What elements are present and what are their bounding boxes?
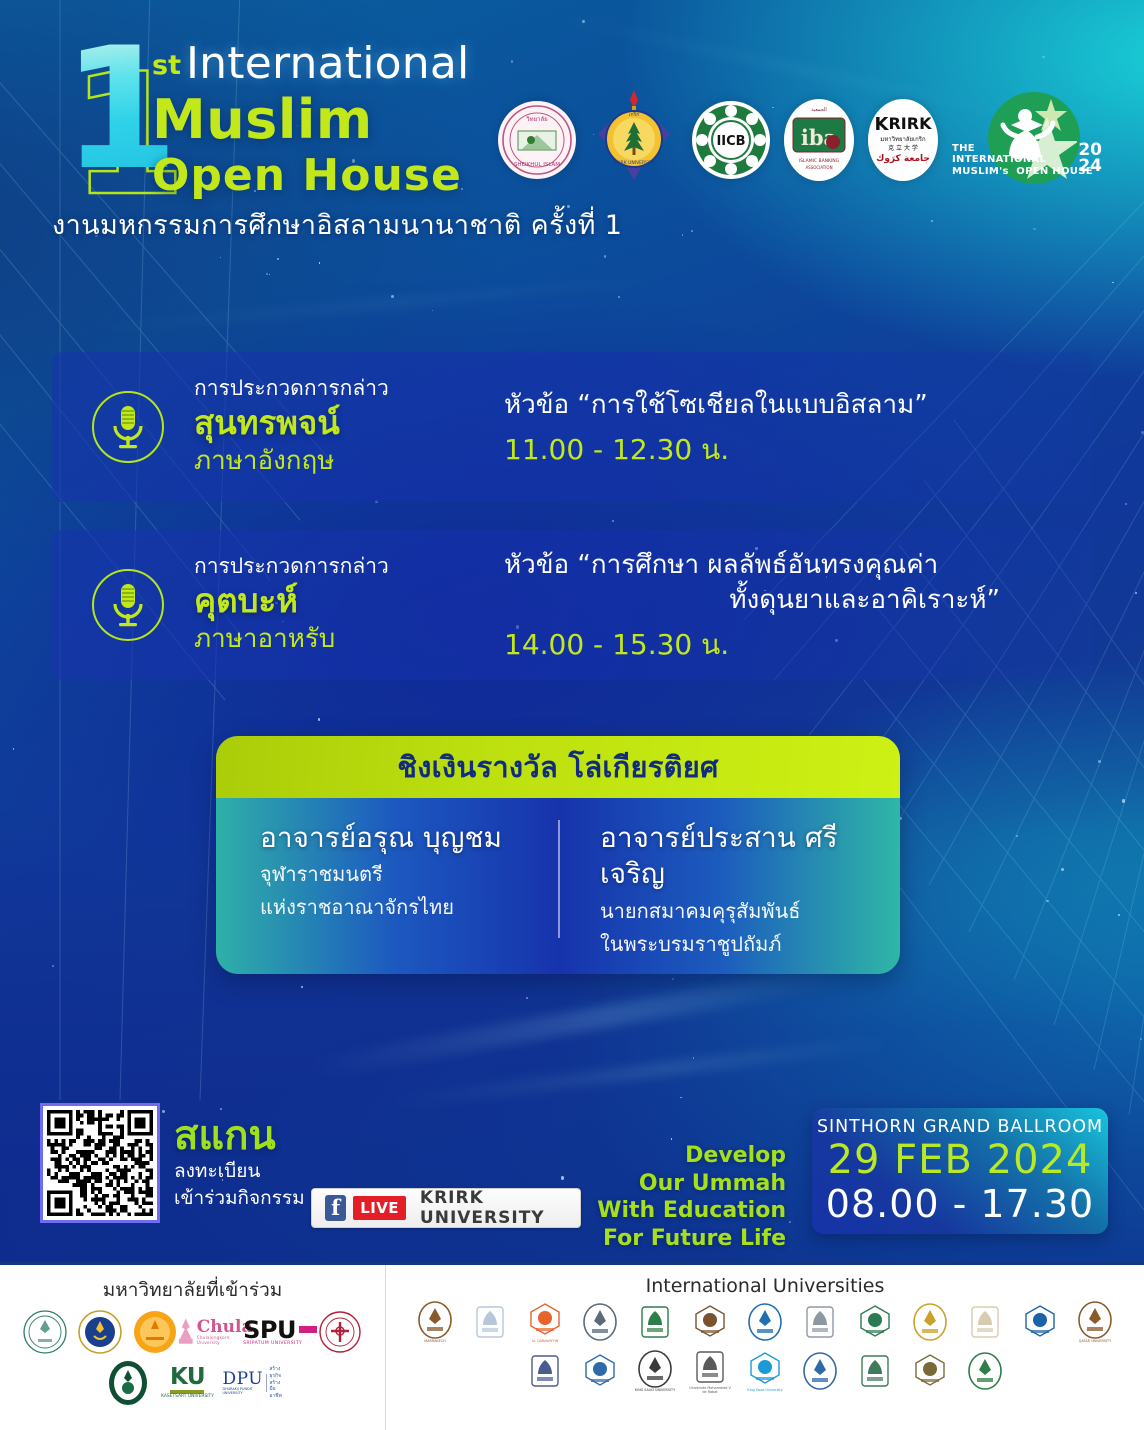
footer-logo-university-pink-dome-logo [467, 1303, 513, 1341]
al-azhar-university-logo-icon [912, 1303, 948, 1341]
poster-header: 1 1 st International Muslim Open House ง… [0, 0, 1144, 250]
footer-logo-palm-tree-university-logo [962, 1352, 1008, 1390]
judge-name: อาจารย์ประสาน ศรีเจริญ [600, 820, 874, 893]
svg-text:ISLAMIC BANKING: ISLAMIC BANKING [799, 158, 840, 164]
footer-logo-brown-crest-university-logo [687, 1303, 733, 1341]
event-topic-line: หัวข้อ “การศึกษา ผลลัพธ์อันทรงคุณค่า [504, 548, 1092, 583]
title-muslim: Muslim [152, 92, 469, 147]
microphone-glyph [108, 404, 148, 450]
footer-logo-sripatum: SPU SRIPATUM UNIVERSITY [252, 1310, 308, 1354]
al-qarawiyyin-university-logo-icon [527, 1301, 563, 1339]
prize-card: ชิงเงินรางวัล โล่เกียรติยศ อาจารย์อรุณ บ… [216, 736, 900, 974]
footer-logo-sunrise-university-logo [577, 1352, 623, 1390]
judge-role-line: ในพระบรมราชูปถัมภ์ [600, 930, 874, 959]
small-crest-university-logo-icon [857, 1352, 893, 1390]
footer-logo-small-crest-university-logo [852, 1352, 898, 1390]
prize-heading: ชิงเงินรางวัล โล่เกียรติยศ [397, 744, 719, 790]
logo-krirk-arabic-seal: KRIRK มหาวิทยาลัยเกริก 克 立 大 学 جامعة كرَ… [868, 99, 938, 181]
palm-tree-university-logo-icon [967, 1352, 1003, 1390]
ordinal-suffix: st [152, 52, 181, 79]
facebook-live-badge[interactable]: f LIVE KRIRK UNIVERSITY [311, 1188, 581, 1228]
judge-divider [558, 820, 560, 938]
blue-circle-university-logo-icon [1022, 1303, 1058, 1341]
footer-thai-title: มหาวิทยาลัยที่เข้าร่วม [0, 1275, 385, 1305]
event-time: 14.00 - 15.30 น. [504, 628, 1092, 662]
svg-text:الجمعية: الجمعية [811, 107, 827, 113]
u-monogram-university-logo-icon [527, 1352, 563, 1390]
qr-scan-label: สแกน [174, 1116, 305, 1156]
open-house-badge-year: 2024 [1078, 142, 1102, 174]
king-saud-book-logo-label: KING SAUD UNIVERSITY [635, 1388, 675, 1392]
logo-international-muslims-open-house-badge: THEINTERNATIONALMUSLIM's OPEN HOUSE 2024 [952, 94, 1102, 186]
imam-university-logo-icon [802, 1352, 838, 1390]
spu-sublabel: SRIPATUM UNIVERSITY [243, 1342, 317, 1347]
svg-text:SHEIKHUL ISLAM: SHEIKHUL ISLAM [514, 162, 560, 168]
venue-name: SINTHORN GRAND BALLROOM [812, 1117, 1108, 1137]
poster-root: 1 1 st International Muslim Open House ง… [0, 0, 1144, 1430]
slogan-line: Develop [597, 1142, 786, 1170]
footer-international-universities: International Universities MARRAKECHAL Q… [386, 1265, 1144, 1430]
event-left: การประกวดการกล่าว คุตบะห์ ภาษาอาหรับ [194, 553, 484, 657]
slogan-line: Our Ummah [597, 1170, 786, 1198]
footer-logo-green-crest-university-logo [632, 1303, 678, 1341]
facebook-icon: f [325, 1195, 346, 1221]
qr-sub-line: ลงทะเบียน [174, 1159, 305, 1183]
mohammed-v-rabat-logo-label: Universite Mohammed V de Rabat [687, 1386, 733, 1394]
footer-logo-dhurakij-pundit: DPU DHURAKIJ PUNDIT UNIVERSITY สร้างธุรก… [225, 1361, 281, 1405]
king-saud-university-logo-icon [747, 1350, 783, 1388]
event-title: สุนทรพจน์ [194, 402, 484, 445]
event-hours: 08.00 - 17.30 [812, 1184, 1108, 1226]
footer-logo-mahidol-seal [317, 1309, 363, 1355]
slogan-line: With Education [597, 1197, 786, 1225]
event-kicker: การประกวดการกล่าว [194, 375, 484, 401]
intl-logo-grid: MARRAKECHAL QARAWIYYINQATAR UNIVERSITYKI… [386, 1301, 1144, 1394]
footer-logo-king-saud-university-logo: King Saud University [742, 1350, 788, 1392]
svg-text:KRIRK UNIVERSITY: KRIRK UNIVERSITY [613, 160, 655, 166]
footer-logo-silpakorn-seal [22, 1309, 68, 1355]
event-topic-line: หัวข้อ “การใช้โซเชียลในแบบอิสลาม” [504, 388, 1092, 423]
event-title: คุตบะห์ [194, 580, 484, 623]
microphone-icon [92, 391, 164, 463]
footer-logo-sun-emblem-university-logo [742, 1303, 788, 1341]
footer-logo-kasetsart: KU KASETSART UNIVERSITY [160, 1361, 216, 1405]
judge-role-line: แห่งราชอาณาจักรไทย [260, 893, 534, 922]
mosque-tower-university-logo-icon [582, 1303, 618, 1341]
footer-logo-blue-circle-university-logo [1017, 1303, 1063, 1341]
king-saud-book-logo-icon [637, 1350, 673, 1388]
judge-entry: อาจารย์อรุณ บุญชม จุฬาราชมนตรี แห่งราชอา… [216, 820, 560, 922]
krirk-cjk-sub: 克 立 大 学 [888, 145, 918, 152]
partner-logo-row: วิทยาลัย SHEIKHUL ISLAM [498, 88, 1102, 192]
al-qarawiyyin-university-logo-label: AL QARAWIYYIN [532, 1339, 559, 1343]
footer-logo-king-saud-book-logo: KING SAUD UNIVERSITY [632, 1350, 678, 1392]
prize-card-body: อาจารย์อรุณ บุญชม จุฬาราชมนตรี แห่งราชอา… [216, 798, 900, 974]
footer-logo-ramkhamhaeng-seal [132, 1309, 178, 1355]
microphone-glyph [108, 582, 148, 628]
ordinal-numeral: 1 1 [52, 38, 164, 198]
judge-role-line: จุฬาราชมนตรี [260, 860, 534, 889]
event-date: 29 FEB 2024 [812, 1137, 1108, 1184]
spu-label: SPU [243, 1318, 296, 1342]
footer-logo-green-oval-university-logo [852, 1303, 898, 1341]
event-language: ภาษาอาหรับ [194, 623, 484, 657]
event-right: หัวข้อ “การใช้โซเชียลในแบบอิสลาม” 11.00 … [484, 388, 1092, 467]
svg-text:เกริก: เกริก [629, 111, 639, 118]
footer-logo-qatar-university-logo: QATAR UNIVERSITY [1072, 1301, 1118, 1343]
ku-sublabel: KASETSART UNIVERSITY [161, 1395, 214, 1399]
university-pink-dome-logo-icon [472, 1303, 508, 1341]
qr-code[interactable] [40, 1103, 160, 1223]
footer-logo-marrakech-university-logo: MARRAKECH [412, 1301, 458, 1343]
event-right: หัวข้อ “การศึกษา ผลลัพธ์อันทรงคุณค่า ทั้… [484, 548, 1092, 662]
green-oval-university-logo-icon [857, 1303, 893, 1341]
krirk-thai-sub: มหาวิทยาลัยเกริก [880, 136, 925, 143]
sun-emblem-university-logo-icon [747, 1303, 783, 1341]
marrakech-university-logo-icon [417, 1301, 453, 1339]
king-saud-university-logo-label: King Saud University [747, 1388, 782, 1392]
grey-shield-university-logo-icon [802, 1303, 838, 1341]
svg-text:วิทยาลัย: วิทยาลัย [526, 116, 548, 123]
event-topic-line: ทั้งดุนยาและอาคิเราะห์” [504, 583, 1092, 618]
event-language: ภาษาอังกฤษ [194, 445, 484, 479]
footer-logo-mohammed-v-rabat-logo: Universite Mohammed V de Rabat [687, 1348, 733, 1394]
logo-sheikhul-islam-seal: วิทยาลัย SHEIKHUL ISLAM [498, 101, 576, 179]
live-badge: LIVE [353, 1196, 406, 1220]
dpu-label: DPU [222, 1371, 263, 1388]
footer-logo-strip: มหาวิทยาลัยที่เข้าร่วม Chula Ch [0, 1262, 1144, 1430]
microphone-icon [92, 569, 164, 641]
event-list: การประกวดการกล่าว สุนทรพจน์ ภาษาอังกฤษ ห… [0, 352, 1144, 680]
event-row: การประกวดการกล่าว คุตบะห์ ภาษาอาหรับ หัว… [52, 530, 1092, 680]
slogan-line: For Future Life [597, 1225, 786, 1253]
iba-seal-icon: iba الجمعية ISLAMIC BANKING ASSOCIATION [787, 102, 851, 178]
prize-card-header: ชิงเงินรางวัล โล่เกียรติยศ [216, 736, 900, 798]
footer-thai-universities: มหาวิทยาลัยที่เข้าร่วม Chula Ch [0, 1265, 386, 1430]
brown-crest-university-logo-icon [692, 1303, 728, 1341]
qr-code-image [47, 1110, 153, 1216]
thai-logo-grid: Chula Chulalongkorn University SPU SRIPA… [0, 1309, 385, 1406]
footer-logo-imam-university-logo [797, 1352, 843, 1390]
logo-krirk-royal-seal: เกริก KRIRK UNIVERSITY [590, 88, 678, 192]
qr-label-block: สแกน ลงทะเบียน เข้าร่วมกิจกรรม [174, 1116, 305, 1211]
krirk-royal-seal-icon: เกริก KRIRK UNIVERSITY [590, 88, 678, 192]
footer-logo-chulalongkorn: Chula Chulalongkorn University [187, 1310, 243, 1354]
footer-logo-thammasat-seal [77, 1309, 123, 1355]
judge-name: อาจารย์อรุณ บุญชม [260, 820, 534, 856]
sheikhul-islam-seal-icon: วิทยาลัย SHEIKHUL ISLAM [501, 104, 573, 176]
judge-role-line: นายกสมาคมคุรุสัมพันธ์ [600, 897, 874, 926]
judge-entry: อาจารย์ประสาน ศรีเจริญ นายกสมาคมคุรุสัมพ… [560, 820, 900, 959]
marrakech-university-logo-label: MARRAKECH [424, 1339, 445, 1343]
thai-subtitle: งานมหกรรมการศึกษาอิสลามนานาชาติ ครั้งที่… [52, 203, 622, 246]
green-crest-university-logo-icon [637, 1303, 673, 1341]
logo-iicb-seal: IICB [692, 101, 770, 179]
qatar-university-logo-icon [1077, 1301, 1113, 1339]
qr-registration-block[interactable]: สแกน ลงทะเบียน เข้าร่วมกิจกรรม [40, 1103, 305, 1223]
iicb-seal-icon: IICB [694, 103, 768, 177]
dpu-sublabel: สร้างธุรกิจ สร้างมืออาชีพ [269, 1366, 282, 1400]
footer-logo-cream-oval-university-logo [962, 1303, 1008, 1341]
logo-iba-seal: iba الجمعية ISLAMIC BANKING ASSOCIATION [784, 99, 854, 181]
event-left: การประกวดการกล่าว สุนทรพจน์ ภาษาอังกฤษ [194, 375, 484, 479]
mohammed-v-rabat-logo-icon [692, 1348, 728, 1386]
title-international: International [186, 42, 469, 86]
title-open-house: Open House [152, 153, 469, 199]
footer-intl-title: International Universities [386, 1275, 1144, 1297]
open-house-badge-label: THEINTERNATIONALMUSLIM's OPEN HOUSE [952, 143, 1093, 178]
dome-emblem-university-logo-icon [912, 1352, 948, 1390]
sunrise-university-logo-icon [582, 1352, 618, 1390]
ku-label: KU [161, 1366, 214, 1389]
footer-logo-al-qarawiyyin-university-logo: AL QARAWIYYIN [522, 1301, 568, 1343]
footer-logo-grey-shield-university-logo [797, 1303, 843, 1341]
svg-text:ASSOCIATION: ASSOCIATION [805, 165, 832, 170]
event-row: การประกวดการกล่าว สุนทรพจน์ ภาษาอังกฤษ ห… [52, 352, 1092, 502]
title-lines: st International Muslim Open House [152, 42, 469, 199]
krirk-arabic-sub: جامعة كرَوك [876, 154, 930, 164]
event-time: 11.00 - 12.30 น. [504, 433, 1092, 467]
footer-logo-u-monogram-university-logo [522, 1352, 568, 1390]
qr-sub-line: เข้าร่วมกิจกรรม [174, 1186, 305, 1210]
qatar-university-logo-label: QATAR UNIVERSITY [1079, 1339, 1111, 1343]
cream-oval-university-logo-icon [967, 1303, 1003, 1341]
slogan-block: Develop Our Ummah With Education For Fut… [597, 1142, 786, 1253]
footer-logo-mosque-tower-university-logo [577, 1303, 623, 1341]
date-venue-box: SINTHORN GRAND BALLROOM 29 FEB 2024 08.0… [812, 1108, 1108, 1234]
iicb-label: IICB [716, 134, 745, 149]
footer-logo-dome-emblem-university-logo [907, 1352, 953, 1390]
event-kicker: การประกวดการกล่าว [194, 553, 484, 579]
facebook-page-name: KRIRK UNIVERSITY [420, 1188, 580, 1228]
footer-logo-prince-of-songkla-seal [105, 1360, 151, 1406]
footer-logo-al-azhar-university-logo [907, 1303, 953, 1341]
